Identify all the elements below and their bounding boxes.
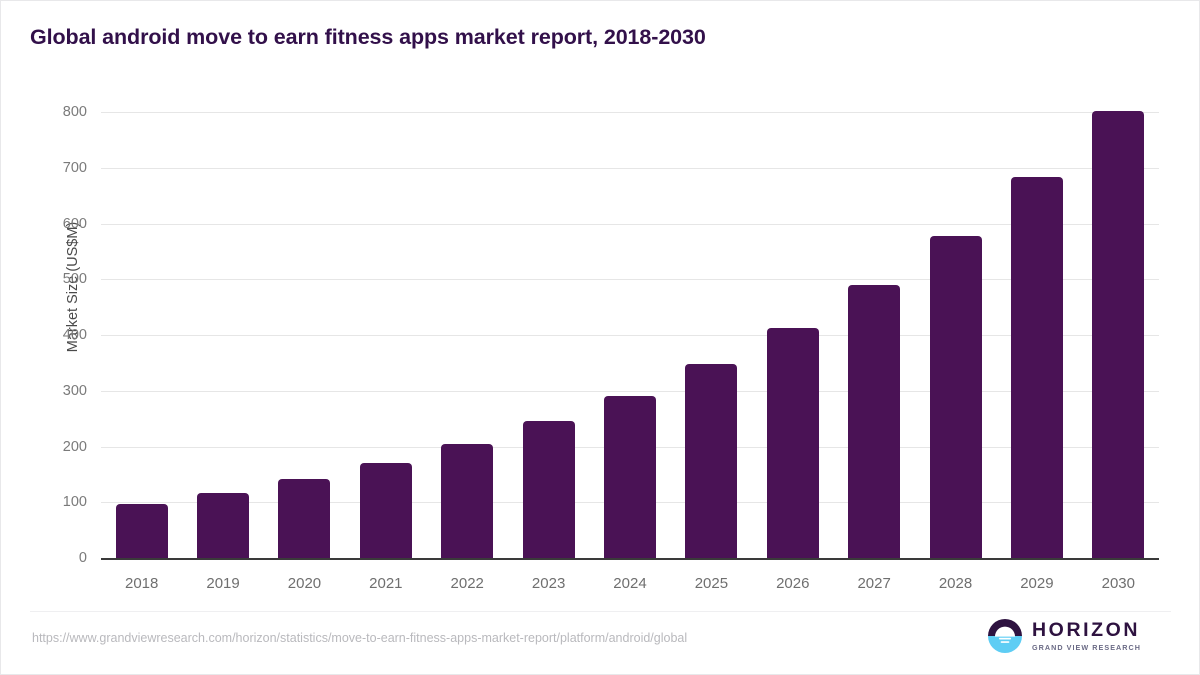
bar-group: 2024	[589, 1, 670, 675]
x-axis-tick-label: 2022	[451, 575, 484, 592]
bar-group: 2030	[1078, 1, 1159, 675]
x-axis-tick-label: 2023	[532, 575, 565, 592]
bar[interactable]	[441, 444, 493, 558]
x-axis-tick-label: 2021	[369, 575, 402, 592]
y-axis-tick-label: 0	[27, 550, 87, 566]
logo-wordmark: HORIZON	[1032, 621, 1141, 641]
y-axis-tick-label: 100	[27, 494, 87, 510]
x-axis-tick-label: 2024	[613, 575, 646, 592]
bar-group: 2019	[182, 1, 263, 675]
y-axis-tick-label: 300	[27, 383, 87, 399]
bar-group: 2028	[915, 1, 996, 675]
horizon-logo: HORIZON GRAND VIEW RESEARCH	[987, 618, 1141, 654]
chart-canvas: Global android move to earn fitness apps…	[0, 0, 1200, 675]
bar[interactable]	[685, 364, 737, 558]
x-axis-tick-label: 2019	[206, 575, 239, 592]
bar[interactable]	[278, 479, 330, 558]
x-axis-tick-label: 2027	[857, 575, 890, 592]
bar[interactable]	[1011, 177, 1063, 558]
bar[interactable]	[523, 421, 575, 558]
y-axis-tick-label: 200	[27, 439, 87, 455]
bar-group: 2029	[996, 1, 1077, 675]
bar-group: 2025	[671, 1, 752, 675]
bar[interactable]	[197, 493, 249, 558]
bar-group: 2026	[752, 1, 833, 675]
bar[interactable]	[360, 463, 412, 558]
y-axis-tick-label: 500	[27, 271, 87, 287]
x-axis-tick-label: 2030	[1102, 575, 1135, 592]
bar[interactable]	[848, 285, 900, 558]
bar[interactable]	[604, 396, 656, 558]
x-axis-tick-label: 2026	[776, 575, 809, 592]
y-axis-tick-label: 400	[27, 327, 87, 343]
y-axis-tick-label: 700	[27, 160, 87, 176]
bar-group: 2023	[508, 1, 589, 675]
x-axis-tick-label: 2025	[695, 575, 728, 592]
footer-divider	[30, 611, 1171, 612]
bar[interactable]	[116, 504, 168, 558]
bar[interactable]	[767, 328, 819, 558]
horizon-logo-text: HORIZON GRAND VIEW RESEARCH	[1032, 621, 1141, 651]
logo-tagline: GRAND VIEW RESEARCH	[1032, 644, 1141, 651]
bar-group: 2022	[427, 1, 508, 675]
bar-group: 2020	[264, 1, 345, 675]
x-axis-tick-label: 2028	[939, 575, 972, 592]
bar-group: 2027	[833, 1, 914, 675]
x-axis-tick-label: 2018	[125, 575, 158, 592]
y-axis-tick-label: 800	[27, 104, 87, 120]
x-axis-tick-label: 2029	[1020, 575, 1053, 592]
plot-area: Market Size (US$M) 010020030040050060070…	[1, 1, 1200, 675]
bar[interactable]	[930, 236, 982, 558]
x-axis-tick-label: 2020	[288, 575, 321, 592]
y-axis-tick-label: 600	[27, 216, 87, 232]
bar-group: 2021	[345, 1, 426, 675]
bar-group: 2018	[101, 1, 182, 675]
source-url[interactable]: https://www.grandviewresearch.com/horizo…	[32, 631, 687, 645]
bars-layer: 2018201920202021202220232024202520262027…	[101, 1, 1159, 675]
horizon-logo-icon	[987, 618, 1023, 654]
bar[interactable]	[1092, 111, 1144, 558]
